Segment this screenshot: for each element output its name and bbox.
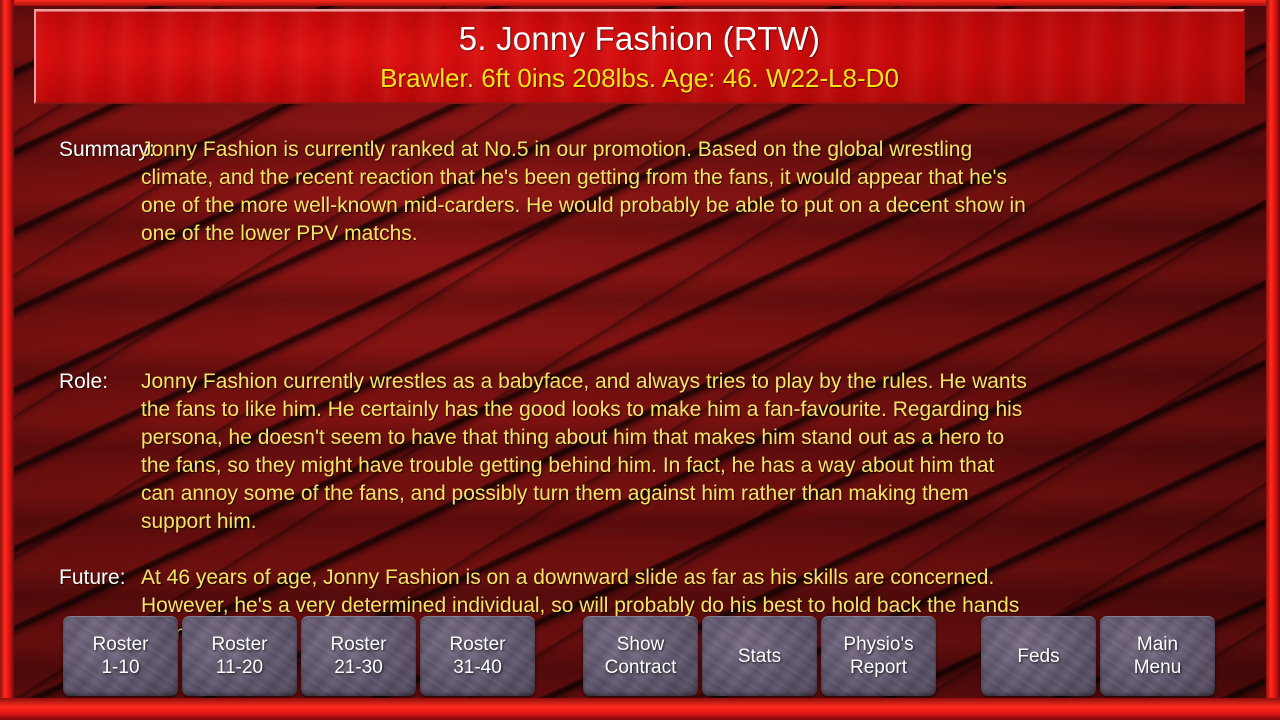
roster-11-20-button[interactable]: Roster 11-20 bbox=[182, 616, 297, 696]
feds-button[interactable]: Feds bbox=[981, 616, 1096, 696]
roster-31-40-button[interactable]: Roster 31-40 bbox=[420, 616, 535, 696]
summary-text: Jonny Fashion is currently ranked at No.… bbox=[141, 136, 1031, 248]
show-contract-label: Show Contract bbox=[605, 633, 677, 679]
feds-label: Feds bbox=[1017, 645, 1059, 668]
role-label: Role: bbox=[0, 368, 141, 396]
roster-11-20-label: Roster 11-20 bbox=[212, 633, 268, 679]
roster-31-40-label: Roster 31-40 bbox=[450, 633, 506, 679]
physios-report-button[interactable]: Physio's Report bbox=[821, 616, 936, 696]
stats-label: Stats bbox=[738, 645, 781, 668]
summary-label: Summary: bbox=[0, 136, 141, 164]
roster-21-30-label: Roster 21-30 bbox=[331, 633, 387, 679]
roster-button-group: Roster 1-10 Roster 11-20 Roster 21-30 Ro… bbox=[63, 616, 535, 696]
section-summary: Summary: Jonny Fashion is currently rank… bbox=[0, 136, 1280, 248]
main-menu-button[interactable]: Main Menu bbox=[1100, 616, 1215, 696]
action-button-group: Show Contract Stats Physio's Report bbox=[583, 616, 936, 696]
roster-1-10-button[interactable]: Roster 1-10 bbox=[63, 616, 178, 696]
wrestling-promotion-screen: 5. Jonny Fashion (RTW) Brawler. 6ft 0ins… bbox=[0, 0, 1280, 720]
wrestler-report-body: Summary: Jonny Fashion is currently rank… bbox=[0, 120, 1280, 648]
roster-1-10-label: Roster 1-10 bbox=[93, 633, 149, 679]
bottom-button-bar: Roster 1-10 Roster 11-20 Roster 21-30 Ro… bbox=[0, 616, 1280, 696]
main-menu-label: Main Menu bbox=[1134, 633, 1182, 679]
wrestler-header-panel: 5. Jonny Fashion (RTW) Brawler. 6ft 0ins… bbox=[34, 9, 1245, 104]
navigation-button-group: Feds Main Menu bbox=[981, 616, 1215, 696]
wrestler-attributes-subtitle: Brawler. 6ft 0ins 208lbs. Age: 46. W22-L… bbox=[380, 62, 899, 94]
future-label: Future: bbox=[0, 564, 141, 592]
section-role: Role: Jonny Fashion currently wrestles a… bbox=[0, 368, 1280, 536]
role-text: Jonny Fashion currently wrestles as a ba… bbox=[141, 368, 1031, 536]
roster-21-30-button[interactable]: Roster 21-30 bbox=[301, 616, 416, 696]
wrestler-name-title: 5. Jonny Fashion (RTW) bbox=[459, 20, 820, 58]
stats-button[interactable]: Stats bbox=[702, 616, 817, 696]
show-contract-button[interactable]: Show Contract bbox=[583, 616, 698, 696]
physios-report-label: Physio's Report bbox=[843, 633, 913, 679]
